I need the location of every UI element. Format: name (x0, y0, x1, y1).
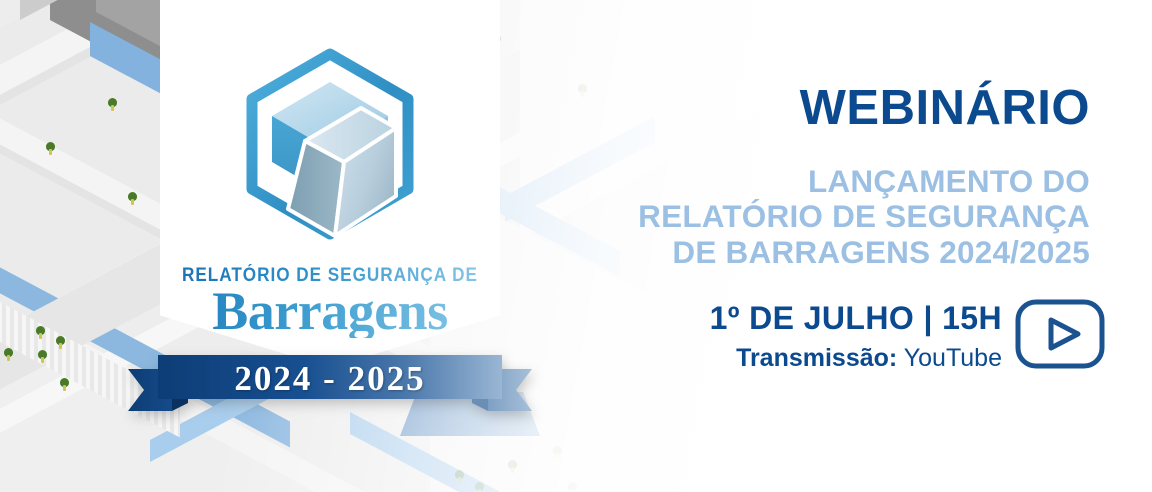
play-button-icon[interactable] (1014, 298, 1106, 370)
logo-card: RELATÓRIO DE SEGURANÇA DE Barragens (160, 0, 500, 368)
event-stream-info: Transmissão: YouTube (736, 344, 1002, 373)
hexagon-dam-emblem (232, 46, 428, 262)
headline-block: WEBINÁRIO LANÇAMENTO DO RELATÓRIO DE SEG… (560, 0, 1152, 492)
logo-wordmark: Barragens (160, 284, 500, 338)
page-title: WEBINÁRIO (800, 84, 1090, 133)
subtitle-line-1: LANÇAMENTO DO (638, 164, 1090, 199)
subtitle-line-3: DE BARRAGENS 2024/2025 (638, 235, 1090, 270)
event-subtitle: LANÇAMENTO DO RELATÓRIO DE SEGURANÇA DE … (638, 164, 1090, 270)
event-datetime: 1º DE JULHO | 15H (710, 300, 1002, 337)
subtitle-line-2: RELATÓRIO DE SEGURANÇA (638, 199, 1090, 234)
stream-label: Transmissão: (736, 344, 897, 372)
webinar-banner: RELATÓRIO DE SEGURANÇA DE Barragens (0, 0, 1152, 492)
ribbon-year-text: 2024 - 2025 (128, 359, 532, 399)
stream-platform: YouTube (904, 344, 1002, 372)
